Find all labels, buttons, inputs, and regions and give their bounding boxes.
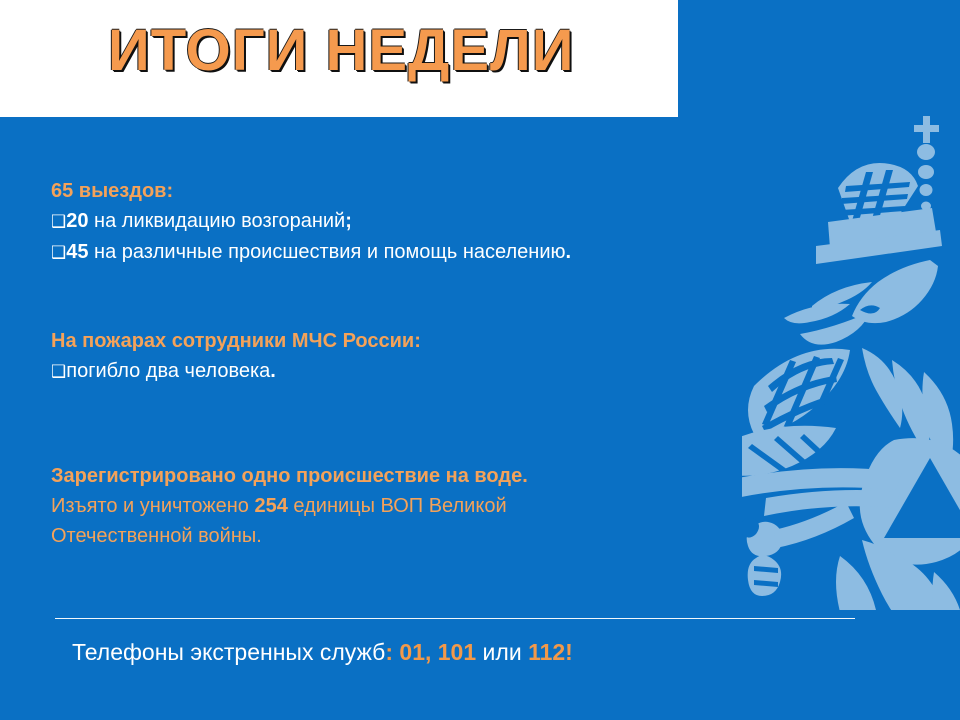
slide-canvas: ИТОГИ НЕДЕЛИ — [0, 0, 960, 720]
page-title: ИТОГИ НЕДЕЛИ — [108, 20, 668, 82]
water-heading: Зарегистрировано одно происшествие на во… — [51, 461, 841, 491]
calls-item-2-tail: . — [566, 241, 572, 263]
fires-item-1-text: погибло два человека — [66, 360, 270, 382]
fires-item-1-tail: . — [270, 360, 276, 382]
summary-block-water: Зарегистрировано одно происшествие на во… — [51, 461, 841, 551]
water-line-2-pre: Изъято и уничтожено — [51, 495, 254, 517]
footer-colon: : — [385, 639, 399, 665]
title-band: ИТОГИ НЕДЕЛИ — [0, 0, 678, 117]
calls-item-1-tail: ; — [345, 210, 352, 232]
bullet-square-icon: ❑ — [51, 362, 66, 382]
calls-item-1-text: на ликвидацию возгораний — [89, 210, 346, 232]
calls-item-2-number: 45 — [66, 241, 88, 263]
emergency-phones-footer: Телефоны экстренных служб: 01, 101 или 1… — [72, 637, 573, 667]
water-line-2: Изъято и уничтожено 254 единицы ВОП Вели… — [51, 491, 841, 521]
water-line-2-post: единицы ВОП Великой — [288, 495, 507, 517]
bullet-square-icon: ❑ — [51, 243, 66, 263]
fires-item-1: ❑погибло два человека. — [51, 356, 841, 387]
calls-item-1: ❑20 на ликвидацию возгораний; — [51, 206, 841, 237]
footer-numbers-primary: 01, 101 — [399, 639, 476, 665]
footer-label: Телефоны экстренных служб — [72, 639, 385, 665]
calls-item-1-number: 20 — [66, 210, 88, 232]
water-line-2-number: 254 — [254, 495, 287, 517]
calls-heading: 65 выездов: — [51, 176, 841, 206]
calls-item-2: ❑45 на различные происшествия и помощь н… — [51, 237, 841, 268]
footer-numbers-secondary: 112! — [528, 639, 573, 665]
water-line-3: Отечественной войны. — [51, 521, 841, 551]
bullet-square-icon: ❑ — [51, 212, 66, 232]
calls-heading-rest: выездов: — [73, 180, 173, 202]
calls-item-2-text: на различные происшествия и помощь насел… — [89, 241, 566, 263]
fires-heading: На пожарах сотрудники МЧС России: — [51, 326, 841, 356]
footer-conjunction: или — [476, 639, 528, 665]
calls-heading-number: 65 — [51, 180, 73, 202]
summary-block-fires: На пожарах сотрудники МЧС России: ❑погиб… — [51, 326, 841, 387]
summary-block-calls: 65 выездов: ❑20 на ликвидацию возгораний… — [51, 176, 841, 268]
footer-divider — [55, 618, 855, 619]
